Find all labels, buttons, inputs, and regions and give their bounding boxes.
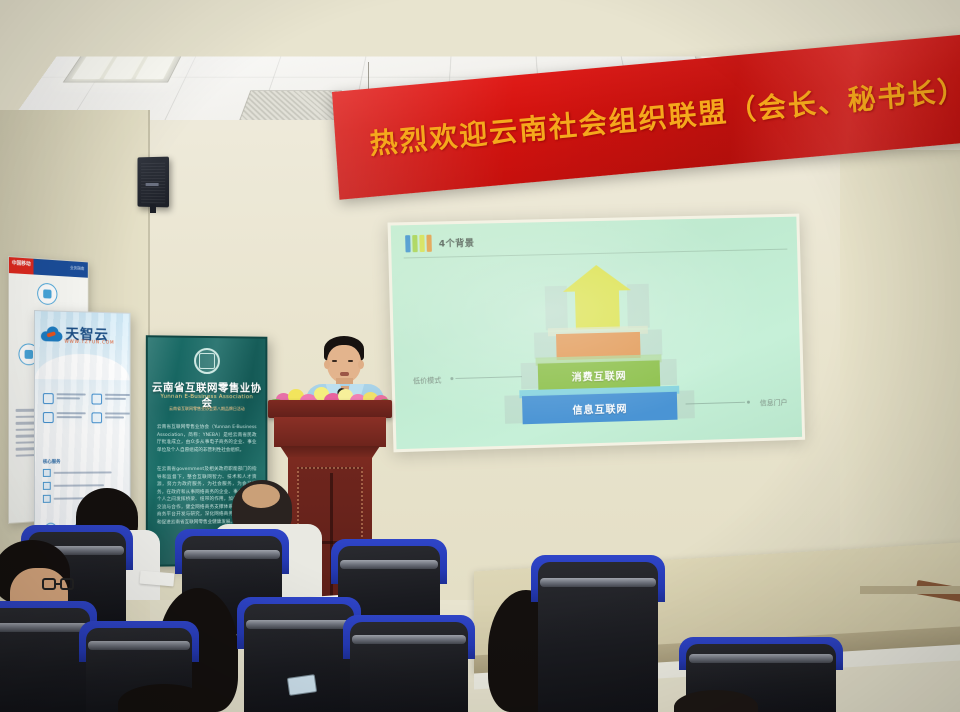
pyramid-diagram: 消费互联网 信息互联网 低价模式 信息门户 [392, 252, 802, 443]
eyeglasses-lens-right [60, 578, 74, 590]
association-paragraph-1: 云南省互联网零售业协会（Yunnan E-Business Associatio… [157, 424, 257, 454]
accent-bar-2 [412, 235, 418, 252]
feature-cell [92, 394, 131, 405]
wall-baseboard [860, 586, 960, 594]
audience-seat [244, 604, 354, 712]
smartphone [287, 674, 317, 696]
pyramid-tier-3: 消费互联网 [538, 360, 661, 389]
seat-top-bar [0, 623, 88, 632]
lectern-upper-body [274, 417, 386, 447]
seat-top-bar [184, 550, 280, 559]
presenter-eye-left [332, 360, 337, 362]
association-title-en: Yunnan E-Business Association [148, 394, 266, 401]
feature-text [105, 394, 131, 405]
person-hair [118, 684, 210, 712]
audience-seat [538, 562, 658, 712]
person-scalp [242, 484, 280, 508]
presenter-ear-right [358, 360, 364, 369]
presentation-slide: 4个背景 消费互联网 [391, 217, 802, 450]
seat-top-bar [540, 578, 655, 587]
pyramid-tier-top-body [575, 289, 620, 329]
seat-top-bar [246, 620, 352, 629]
slide-accent-bars [405, 235, 432, 253]
feature-text [57, 412, 86, 423]
feature-grid [43, 393, 122, 423]
service-icon [43, 469, 51, 477]
association-subtitle: 云南省互联网零售业协会第八期品牌日活动 [156, 406, 258, 412]
feature-text [57, 393, 86, 404]
feature-icon [92, 394, 103, 405]
presenter-eye-right [348, 360, 353, 362]
audience-person [118, 684, 210, 712]
pyramid-tier-3-label: 消费互联网 [571, 367, 626, 384]
annotation-right-label: 信息门户 [760, 398, 788, 409]
annotation-left-leader [455, 376, 522, 379]
service-icon [43, 495, 51, 503]
seat-top-bar [352, 635, 465, 644]
ceiling-light-panel [63, 57, 185, 83]
slide-header: 4个背景 [405, 234, 474, 253]
feature-cell [43, 393, 86, 404]
speaker-logo [146, 183, 159, 186]
feature-cell [92, 412, 131, 423]
feature-icon [92, 412, 103, 423]
seat-top-bar [88, 641, 190, 650]
audience-seat [0, 608, 90, 712]
feature-text [105, 412, 131, 423]
poster-node [37, 283, 57, 306]
poster-header-band: 中国移动 业务指南 [9, 257, 88, 278]
pyramid-tier-4-label: 信息互联网 [572, 400, 627, 417]
presenter-ear-left [324, 360, 330, 369]
person-hair [674, 690, 758, 712]
right-wall [840, 150, 960, 570]
seat-top-bar [689, 654, 833, 663]
service-icon [43, 482, 51, 490]
poster-header-tag: 业务指南 [70, 265, 84, 272]
slide-title: 4个背景 [439, 236, 475, 250]
eyeglasses-bridge [56, 583, 61, 585]
cloud-band-graphic [35, 353, 130, 380]
annotation-left-label: 低价模式 [413, 375, 442, 386]
projection-screen: 4个背景 消费互联网 [388, 214, 806, 453]
accent-bar-1 [405, 235, 411, 252]
poster-logo: 中国移动 [12, 259, 31, 267]
seat-top-bar [340, 560, 438, 569]
feature-cell [43, 412, 86, 423]
lectern-top-surface [268, 400, 392, 418]
audience-person [0, 540, 70, 604]
banner-text: 热烈欢迎云南社会组织联盟（会长、秘书长）莅临参加第八期品牌日活动 [368, 36, 960, 163]
feature-icon [43, 393, 54, 404]
pyramid-tier-top-arrow [562, 264, 631, 292]
annotation-right-dot [747, 401, 750, 404]
association-seal-icon [194, 348, 220, 374]
cloud-icon [41, 326, 63, 341]
service-item [43, 468, 122, 477]
services-heading: 核心服务 [43, 459, 122, 465]
conference-hall-photo: 热烈欢迎云南社会组织联盟（会长、秘书长）莅临参加第八期品牌日活动 4个背景 [0, 0, 960, 712]
annotation-left-dot [450, 377, 453, 380]
brand-url: WWW.TZYUN.COM [64, 340, 114, 346]
speaker-bracket [150, 204, 156, 213]
pyramid-tier-4: 信息互联网 [522, 392, 678, 425]
feature-icon [43, 412, 54, 423]
eyeglasses-lens-left [42, 578, 56, 590]
audience-seat [350, 622, 468, 712]
wall-mounted-loudspeaker [137, 157, 169, 208]
accent-bar-4 [426, 235, 432, 252]
audience-person [674, 690, 758, 712]
presenter-mouth [340, 372, 349, 376]
accent-bar-3 [419, 235, 425, 252]
